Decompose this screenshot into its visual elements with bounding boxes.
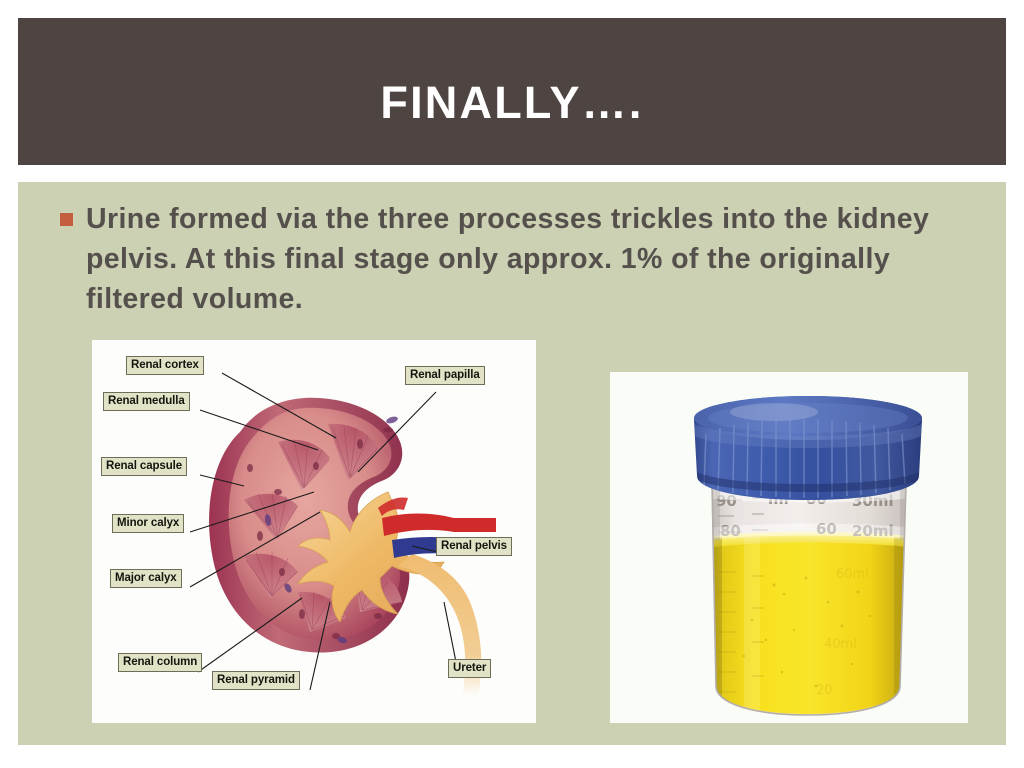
- specimen-cap: [694, 396, 922, 500]
- label-renal-medulla: Renal medulla: [103, 392, 190, 411]
- label-renal-pelvis: Renal pelvis: [436, 537, 512, 556]
- svg-text:40ml: 40ml: [824, 637, 857, 652]
- bullet-paragraph: Urine formed via the three processes tri…: [86, 199, 990, 319]
- bullet-list-item: Urine formed via the three processes tri…: [60, 199, 990, 319]
- content-panel: Urine formed via the three processes tri…: [18, 182, 1006, 745]
- title-bar: FINALLY….: [18, 18, 1006, 165]
- label-renal-papilla: Renal papilla: [405, 366, 485, 385]
- bullet-square-icon: [60, 213, 73, 226]
- kidney-diagram-image: Renal cortex Renal medulla Renal capsule…: [92, 340, 536, 723]
- page-title: FINALLY….: [18, 80, 1006, 126]
- label-renal-cortex: Renal cortex: [126, 356, 204, 375]
- label-renal-capsule: Renal capsule: [101, 457, 187, 476]
- label-minor-calyx: Minor calyx: [112, 514, 184, 533]
- label-renal-pyramid: Renal pyramid: [212, 671, 300, 690]
- svg-text:60ml: 60ml: [836, 567, 869, 582]
- svg-text:20: 20: [816, 683, 833, 698]
- urine-sample-image: 60ml 40ml 20: [610, 372, 968, 723]
- urine-liquid: 60ml 40ml 20: [706, 532, 916, 723]
- label-ureter: Ureter: [448, 659, 491, 678]
- slide: FINALLY…. Urine formed via the three pro…: [0, 0, 1024, 768]
- label-renal-column: Renal column: [118, 653, 202, 672]
- urine-cup-illustration: 60ml 40ml 20: [610, 372, 968, 723]
- label-major-calyx: Major calyx: [110, 569, 182, 588]
